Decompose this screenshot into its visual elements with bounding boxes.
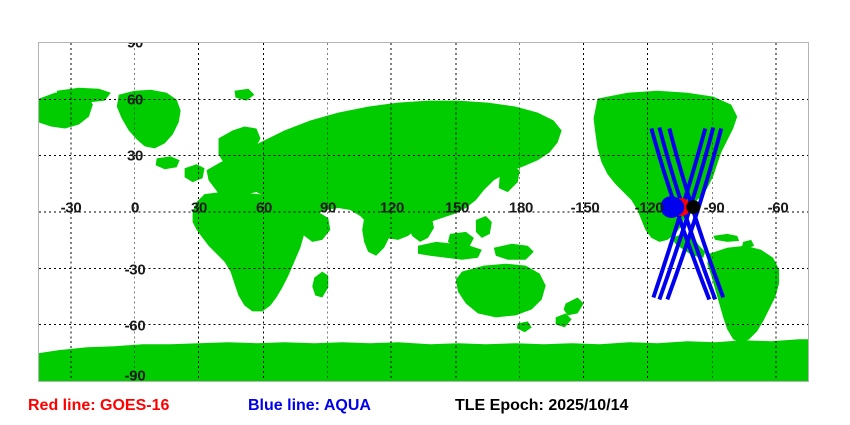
secondary-position-marker <box>686 200 700 214</box>
aqua-position-marker-overlap <box>666 198 684 216</box>
world-map-canvas <box>39 43 808 381</box>
world-map-panel[interactable]: -30 0 30 60 90 120 150 180 -150 -120 -90… <box>38 42 809 382</box>
map-legend: Red line: GOES-16 Blue line: AQUA TLE Ep… <box>0 392 850 425</box>
legend-aqua-label: Blue line: AQUA <box>248 398 371 414</box>
legend-tle-epoch-label: TLE Epoch: 2025/10/14 <box>455 398 628 414</box>
legend-goes16-label: Red line: GOES-16 <box>28 398 169 414</box>
ground-track-map-app: -30 0 30 60 90 120 150 180 -150 -120 -90… <box>0 0 850 425</box>
land-antarctica <box>39 339 808 381</box>
